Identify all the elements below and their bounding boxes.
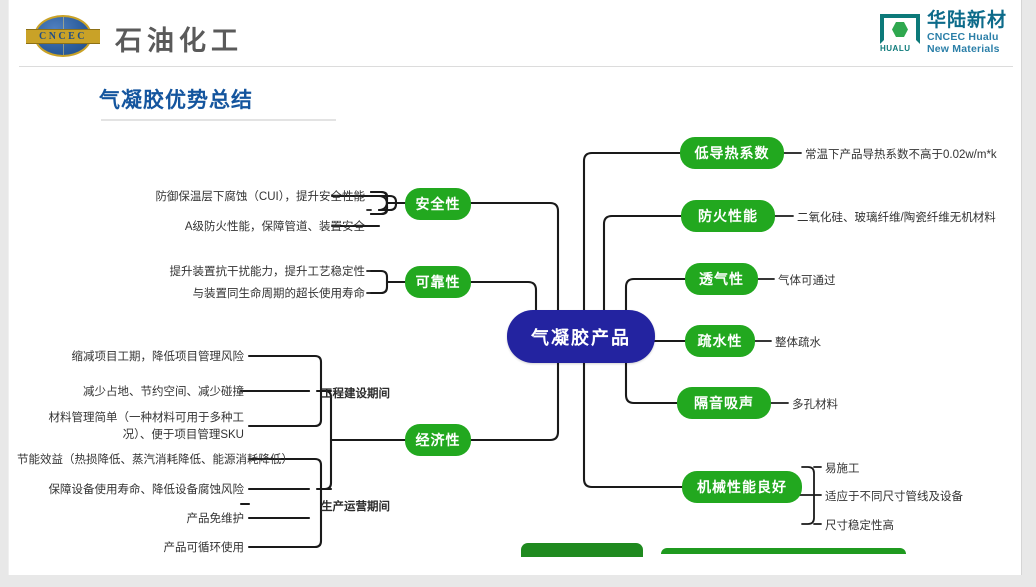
bottom-bar-right xyxy=(661,548,906,554)
leaf-reliability-1: 提升装置抗干扰能力，提升工艺稳定性 xyxy=(99,264,365,281)
mindmap-node-soundproof[interactable]: 隔音吸声 xyxy=(677,387,771,419)
leaf-operation-3: 产品免维护 xyxy=(17,511,244,528)
leaf-safety-2: A级防火性能，保障管道、装置安全 xyxy=(99,219,365,236)
mindmap-node-economy[interactable]: 经济性 xyxy=(405,424,471,456)
bottom-bar-left xyxy=(521,543,643,557)
slide-canvas: CNCEC 石油化工 HUALU 华陆新材 CNCEC Hualu New Ma… xyxy=(8,0,1022,575)
leaf-breathable-1: 气体可通过 xyxy=(778,273,836,290)
group-label-operation: 生产运营期间 xyxy=(321,498,390,514)
leaf-construction-1: 缩减项目工期，降低项目管理风险 xyxy=(29,349,244,366)
mindmap-node-low-conductivity[interactable]: 低导热系数 xyxy=(680,137,784,169)
leaf-operation-2: 保障设备使用寿命、降低设备腐蚀风险 xyxy=(17,482,244,499)
leaf-construction-3: 材料管理简单（一种材料可用于多种工况）、便于项目管理SKU xyxy=(29,410,244,443)
mindmap-node-mechanical[interactable]: 机械性能良好 xyxy=(682,471,802,503)
leaf-operation-1: 节能效益（热损降低、蒸汽消耗降低、能源消耗降低） xyxy=(17,452,244,469)
leaf-reliability-2: 与装置同生命周期的超长使用寿命 xyxy=(99,286,365,303)
group-label-construction: 工程建设期间 xyxy=(321,385,390,401)
mindmap-center-node[interactable]: 气凝胶产品 xyxy=(507,310,655,363)
leaf-operation-4: 产品可循环使用 xyxy=(17,540,244,557)
leaf-mechanical-3: 尺寸稳定性高 xyxy=(825,518,894,535)
mindmap-node-reliability[interactable]: 可靠性 xyxy=(405,266,471,298)
leaf-mechanical-2: 适应于不同尺寸管线及设备 xyxy=(825,489,963,506)
mindmap-node-hydrophobic[interactable]: 疏水性 xyxy=(685,325,755,357)
mindmap: 气凝胶产品 安全性 可靠性 经济性 防御保温层下腐蚀（CUI），提升安全性能 A… xyxy=(9,0,1022,575)
leaf-fireproof-1: 二氧化硅、玻璃纤维/陶瓷纤维无机材料 xyxy=(797,210,996,227)
leaf-low-conductivity-1: 常温下产品导热系数不高于0.02w/m*k xyxy=(805,147,997,164)
leaf-hydrophobic-1: 整体疏水 xyxy=(775,335,821,352)
leaf-soundproof-1: 多孔材料 xyxy=(792,397,838,414)
mindmap-node-breathable[interactable]: 透气性 xyxy=(685,263,758,295)
leaf-construction-2: 减少占地、节约空间、减少碰撞 xyxy=(29,384,244,401)
leaf-mechanical-1: 易施工 xyxy=(825,461,860,478)
mindmap-node-safety[interactable]: 安全性 xyxy=(405,188,471,220)
leaf-safety-1: 防御保温层下腐蚀（CUI），提升安全性能 xyxy=(99,189,365,206)
mindmap-node-fireproof[interactable]: 防火性能 xyxy=(681,200,775,232)
